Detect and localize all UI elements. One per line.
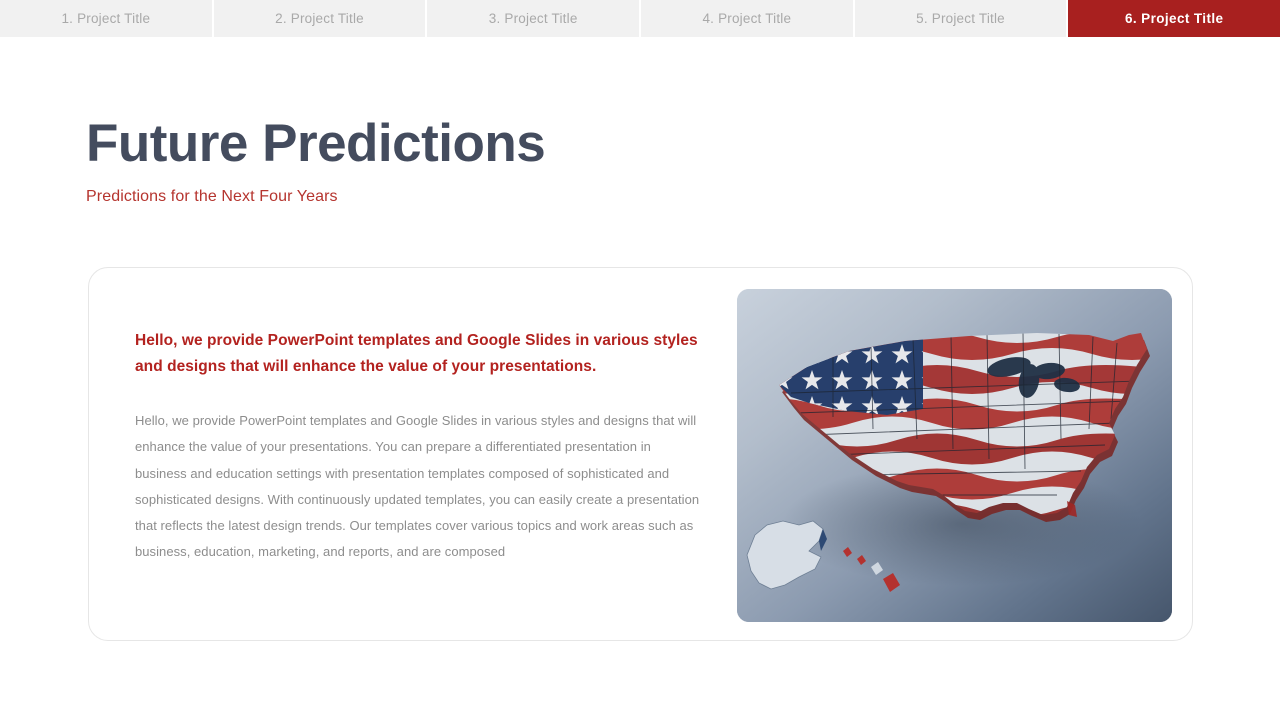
tab-project-3[interactable]: 3. Project Title — [427, 0, 639, 37]
tab-label: 2. Project Title — [275, 11, 364, 26]
tab-project-5[interactable]: 5. Project Title — [855, 0, 1067, 37]
tab-label: 3. Project Title — [489, 11, 578, 26]
tab-label: 6. Project Title — [1125, 11, 1223, 26]
page-subtitle: Predictions for the Next Four Years — [86, 186, 338, 208]
tab-project-2[interactable]: 2. Project Title — [214, 0, 426, 37]
tab-project-4[interactable]: 4. Project Title — [641, 0, 853, 37]
tab-project-6[interactable]: 6. Project Title — [1068, 0, 1280, 37]
tab-bar: 1. Project Title 2. Project Title 3. Pro… — [0, 0, 1280, 37]
tab-label: 4. Project Title — [702, 11, 791, 26]
tab-project-1[interactable]: 1. Project Title — [0, 0, 212, 37]
tab-label: 5. Project Title — [916, 11, 1005, 26]
content-card: Hello, we provide PowerPoint templates a… — [88, 267, 1193, 641]
card-lead-text: Hello, we provide PowerPoint templates a… — [135, 328, 705, 379]
tab-label: 1. Project Title — [61, 11, 150, 26]
page-title: Future Predictions — [86, 112, 545, 176]
usa-flag-map-image — [737, 289, 1172, 622]
card-text-column: Hello, we provide PowerPoint templates a… — [135, 328, 705, 566]
slide: 1. Project Title 2. Project Title 3. Pro… — [0, 0, 1280, 720]
card-body-text: Hello, we provide PowerPoint templates a… — [135, 408, 705, 566]
